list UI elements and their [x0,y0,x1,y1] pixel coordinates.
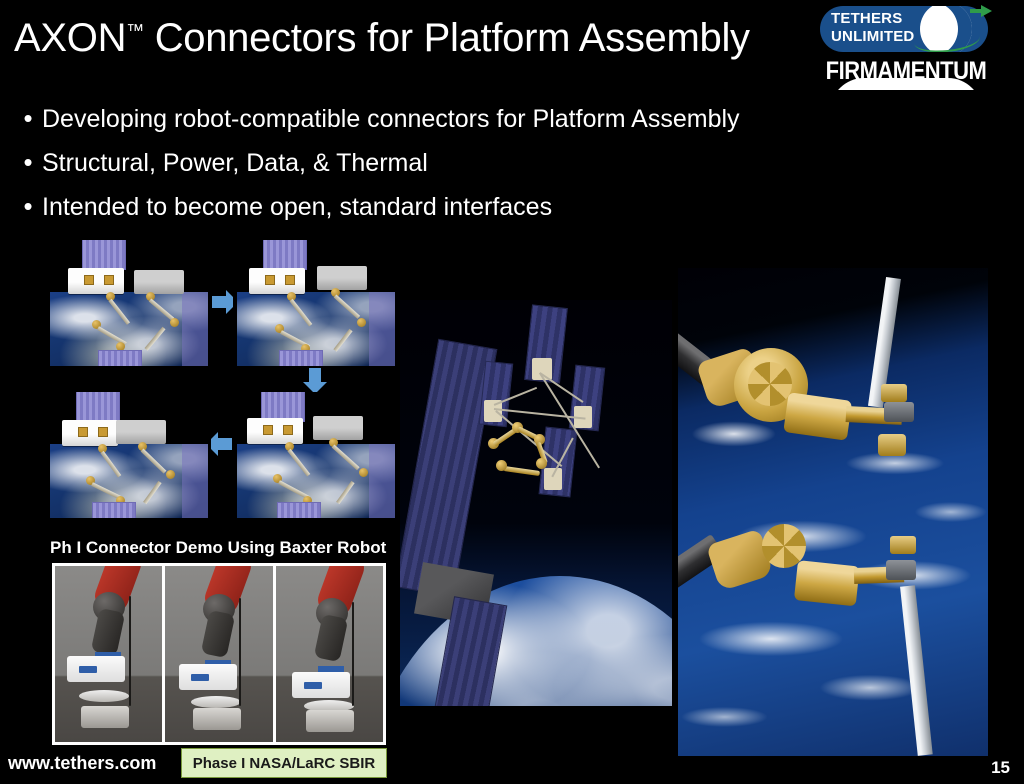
bullet-text: Structural, Power, Data, & Thermal [42,147,428,179]
bullet-item: • Intended to become open, standard inte… [14,191,914,223]
assembly-sequence-figure [46,240,398,522]
page-title: AXON™ Connectors for Platform Assembly [14,16,750,60]
arm-joint [496,460,507,471]
connector-base [81,706,129,728]
baxter-demo-photo-strip [52,563,386,745]
connector-base [193,708,241,730]
logo-text-tethers: TETHERS [831,11,902,26]
bullet-text: Developing robot-compatible connectors f… [42,103,740,135]
payload-module-gray [313,416,363,440]
pole-collar [881,384,907,402]
title-main: AXON [14,16,126,60]
satellite-platform-render [400,300,672,706]
slide-root: AXON™ Connectors for Platform Assembly T… [0,0,1024,784]
arm-joint [536,458,547,469]
flow-arrow-right-icon [212,296,226,308]
sequence-step-image [46,240,211,366]
bullet-marker: • [14,103,42,133]
connector-module-white [68,268,124,294]
bullet-marker: • [14,191,42,221]
connector-receptacle [191,696,241,708]
arm-joint [170,318,179,327]
green-arrow-icon [981,5,992,17]
logo-text-firmamentum: FIRMAMENTUM [824,56,988,86]
bullet-marker: • [14,147,42,177]
connector-port [104,275,114,285]
solar-panel [82,240,126,270]
connector-barrel [794,560,860,606]
connector-port [283,425,293,435]
logo-block: TETHERS UNLIMITED FIRMAMENTUM [820,4,992,90]
connector-port [78,427,88,437]
connector-label [304,682,322,689]
slide-page-number: 15 [991,758,1010,778]
baxter-demo-frame [165,566,272,742]
connector-port [265,275,275,285]
cable [352,602,354,706]
solar-panel [92,502,136,518]
solar-panel [279,350,323,366]
firmamentum-logo: FIRMAMENTUM [824,56,988,90]
cloud-layer [678,268,988,756]
logo-text-unlimited: UNLIMITED [831,29,914,44]
connector-module-white [249,268,305,294]
connector-base [306,710,354,732]
connector-port [98,427,108,437]
connector-label [191,674,209,681]
connector-closeup-renders [678,268,988,756]
connector-port [263,425,273,435]
baxter-demo-frame [55,566,162,742]
flow-arrow-down-icon [309,368,321,382]
bullet-item: • Developing robot-compatible connectors… [14,103,914,135]
baxter-demo-caption: Ph I Connector Demo Using Baxter Robot [50,538,386,558]
tethers-unlimited-logo: TETHERS UNLIMITED [820,6,988,52]
solar-panel [98,350,142,366]
connector-label [79,666,97,673]
payload-module-gray [317,266,367,290]
connector-port [285,275,295,285]
sequence-step-image [233,240,398,366]
connector-port [84,275,94,285]
connector-receptacle [79,690,129,702]
connector-petal-ring-icon [748,362,792,406]
arm-joint [359,468,368,477]
bullet-list: • Developing robot-compatible connectors… [14,103,914,235]
connector-grip [886,560,916,580]
connector-module-white [247,418,303,444]
payload-module-gray [134,270,184,294]
connector-module-white [62,420,118,446]
solar-panel [263,240,307,270]
connector-grip [884,402,914,422]
bullet-item: • Structural, Power, Data, & Thermal [14,147,914,179]
cable [239,598,241,706]
trademark-symbol: ™ [126,21,144,41]
pole-collar [890,536,916,554]
arm-joint [357,318,366,327]
cable [129,596,131,706]
flow-arrow-left-icon [218,438,232,450]
baxter-demo-frame [276,566,383,742]
pole-end-fitting [878,434,906,456]
program-badge: Phase I NASA/LaRC SBIR [181,748,387,778]
title-rest: Connectors for Platform Assembly [144,16,750,60]
sequence-step-image [46,392,211,518]
footer-website-url[interactable]: www.tethers.com [8,753,156,774]
sequence-step-image [233,392,398,518]
bullet-text: Intended to become open, standard interf… [42,191,552,223]
solar-panel [277,502,321,518]
solar-panel [76,392,120,422]
payload-module-gray [116,420,166,444]
arm-joint [166,470,175,479]
